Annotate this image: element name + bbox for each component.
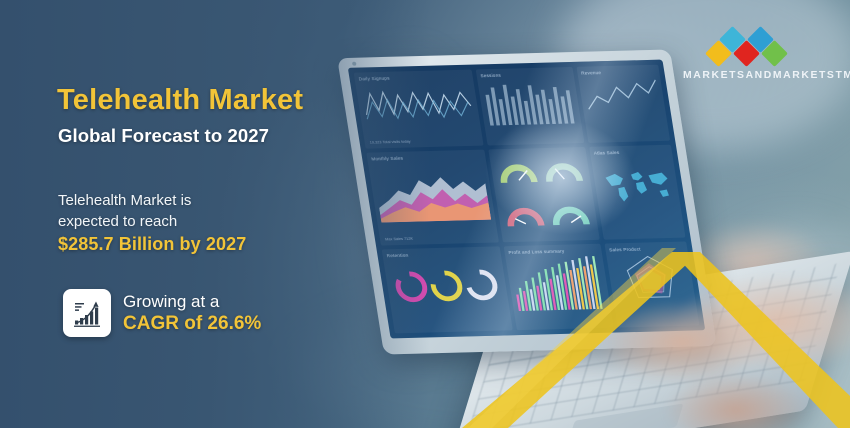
telehealth-market-banner: Daily Signups 19,323 Total visits today … bbox=[0, 0, 850, 428]
gauge-3 bbox=[500, 196, 549, 233]
panel-atlas-sales: Atlas Sales bbox=[589, 144, 686, 239]
lead-line-1: Telehealth Market is bbox=[58, 190, 191, 211]
panel-gauges bbox=[488, 147, 599, 243]
panel-revenue: Revenue bbox=[576, 65, 670, 143]
cagr-label: Growing at a bbox=[123, 291, 261, 312]
page-subtitle: Global Forecast to 2027 bbox=[58, 125, 269, 147]
gauge-4 bbox=[545, 194, 594, 231]
marketsandmarkets-logo[interactable]: MARKETSANDMARKETSTM bbox=[683, 30, 823, 81]
bar-chart-svg bbox=[481, 76, 577, 126]
lead-line-2: expected to reach bbox=[58, 211, 191, 232]
page-title: Telehealth Market bbox=[57, 84, 303, 117]
cagr-block: Growing at a CAGR of 26.6% bbox=[63, 289, 261, 337]
lead-text: Telehealth Market is expected to reach bbox=[58, 190, 191, 233]
hand-on-keyboard bbox=[562, 262, 850, 428]
cagr-text: Growing at a CAGR of 26.6% bbox=[123, 291, 261, 336]
logo-wordmark: MARKETSANDMARKETSTM bbox=[683, 70, 823, 81]
sparkline-svg bbox=[582, 74, 663, 118]
panel-sessions: Sessions bbox=[475, 67, 584, 145]
gauge-2 bbox=[538, 151, 587, 188]
gauge-1 bbox=[493, 152, 542, 189]
logo-diamonds bbox=[699, 30, 823, 68]
world-map-svg bbox=[594, 153, 678, 216]
cagr-value: CAGR of 26.6% bbox=[123, 312, 261, 336]
market-value-statement: $285.7 Billion by 2027 bbox=[58, 234, 246, 255]
growth-chart-glyph bbox=[70, 296, 104, 330]
growth-chart-icon bbox=[63, 289, 111, 337]
